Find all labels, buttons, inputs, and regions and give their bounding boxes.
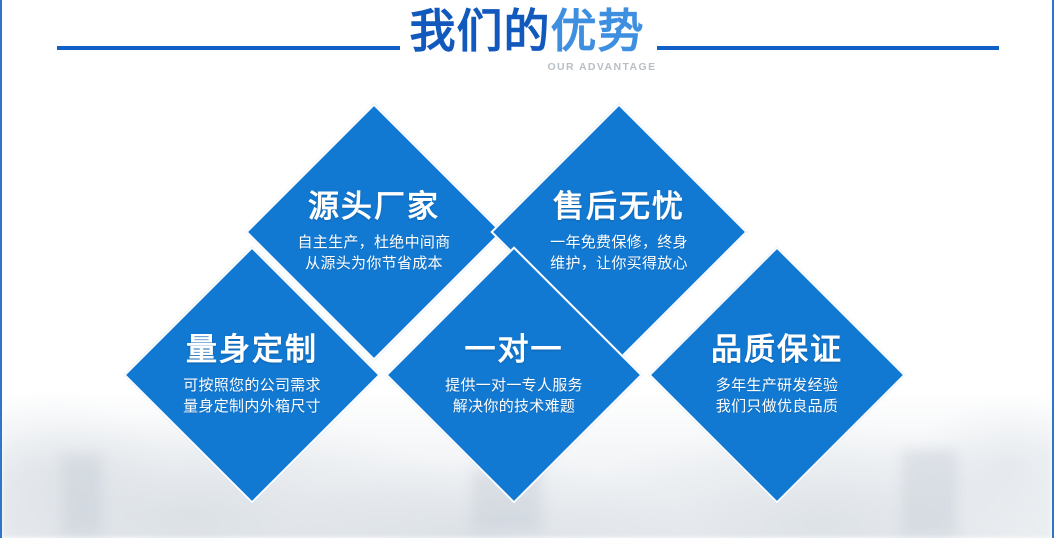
- advantage-card-content: 品质保证 多年生产研发经验 我们只做优良品质: [652, 333, 902, 417]
- background-streak-right: [902, 450, 957, 535]
- advantage-card-title: 一对一: [389, 333, 639, 368]
- advantage-card-title: 量身定制: [127, 333, 377, 368]
- advantage-card-line: 量身定制内外箱尺寸: [127, 396, 377, 417]
- page-title-accent: 优势: [551, 5, 645, 57]
- advantage-card-description: 多年生产研发经验 我们只做优良品质: [652, 375, 902, 418]
- page-subtitle: OUR ADVANTAGE: [2, 57, 1052, 75]
- advantage-card-line: 解决你的技术难题: [389, 396, 639, 417]
- advantage-card-description: 自主生产，杜绝中间商 从源头为你节省成本: [249, 232, 499, 275]
- page-title: 我们的优势: [2, 8, 1052, 54]
- advantage-card-content: 量身定制 可按照您的公司需求 量身定制内外箱尺寸: [127, 333, 377, 417]
- advantage-card-line: 自主生产，杜绝中间商: [249, 232, 499, 253]
- advantage-card-content: 源头厂家 自主生产，杜绝中间商 从源头为你节省成本: [249, 190, 499, 274]
- advantage-banner: 我们的优势 OUR ADVANTAGE 源头厂家 自主生产，杜绝中间商 从源头为…: [0, 0, 1054, 538]
- advantage-card-title: 品质保证: [652, 333, 902, 368]
- advantage-card-line: 提供一对一专人服务: [389, 375, 639, 396]
- header: 我们的优势 OUR ADVANTAGE: [2, 0, 1052, 92]
- advantage-card-title: 源头厂家: [249, 190, 499, 225]
- advantage-card-title: 售后无忧: [494, 190, 744, 225]
- advantage-card-line: 从源头为你节省成本: [249, 253, 499, 274]
- advantage-card-line: 一年免费保修，终身: [494, 232, 744, 253]
- page-title-primary: 我们的: [410, 5, 551, 57]
- advantage-card-description: 提供一对一专人服务 解决你的技术难题: [389, 375, 639, 418]
- background-streak-left: [62, 455, 102, 535]
- advantage-card-line: 我们只做优良品质: [652, 396, 902, 417]
- advantage-card-content: 一对一 提供一对一专人服务 解决你的技术难题: [389, 333, 639, 417]
- advantage-card-content: 售后无忧 一年免费保修，终身 维护，让你买得放心: [494, 190, 744, 274]
- advantage-card-line: 多年生产研发经验: [652, 375, 902, 396]
- page-subtitle-text: OUR ADVANTAGE: [547, 61, 656, 73]
- advantage-card-line: 可按照您的公司需求: [127, 375, 377, 396]
- advantage-card-description: 可按照您的公司需求 量身定制内外箱尺寸: [127, 375, 377, 418]
